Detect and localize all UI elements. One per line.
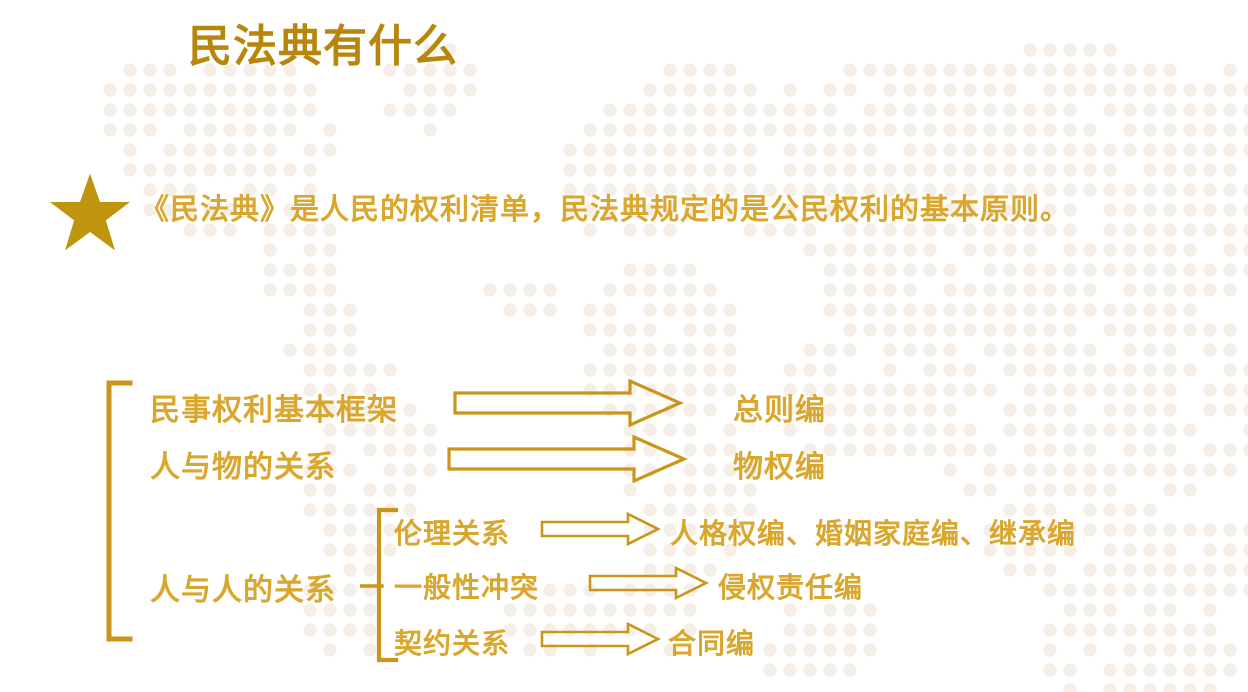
outer-left-bracket — [100, 380, 134, 642]
sub-branch-2-source-label: 一般性冲突 — [394, 566, 539, 606]
branch-3-source-label: 人与人的关系 — [150, 565, 336, 609]
bracket-diagram: 民事权利基本框架 总则编 人与物的关系 物权编 人与人的关系 伦理关系 人格权编… — [0, 0, 1248, 692]
sub-branch-1-target-label: 人格权编、婚姻家庭编、继承编 — [670, 512, 1076, 552]
star-icon — [48, 172, 132, 252]
branch-1-arrow-icon — [452, 379, 684, 427]
sub-branch-3-arrow-icon — [540, 622, 662, 656]
branch-1-source-label: 民事权利基本框架 — [150, 385, 398, 429]
branch-2-arrow-icon — [446, 435, 688, 483]
sub-branch-1-arrow-icon — [540, 512, 662, 546]
branch-2-target-label: 物权编 — [733, 442, 826, 486]
sub-branch-2-arrow-icon — [588, 566, 710, 600]
branch-1-target-label: 总则编 — [733, 385, 826, 429]
branch-2-source-label: 人与物的关系 — [150, 442, 336, 486]
bullet-text: 《民法典》是人民的权利清单，民法典规定的是公民权利的基本原则。 — [140, 192, 1070, 228]
sub-branch-3-source-label: 契约关系 — [394, 622, 510, 662]
slide-canvas: 民法典有什么 《民法典》是人民的权利清单，民法典规定的是公民权利的基本原则。 民… — [0, 0, 1248, 692]
page-title: 民法典有什么 — [188, 22, 458, 73]
sub-branch-1-source-label: 伦理关系 — [394, 512, 510, 552]
sub-branch-2-target-label: 侵权责任编 — [718, 566, 863, 606]
sub-branch-3-target-label: 合同编 — [668, 622, 755, 662]
